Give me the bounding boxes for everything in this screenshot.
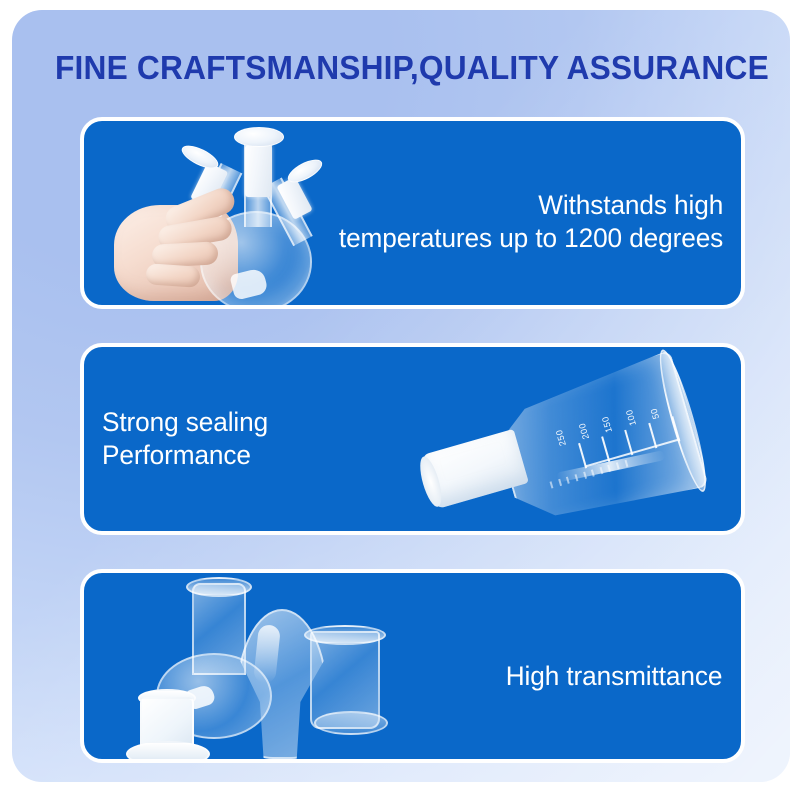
glass-stopper-right-icon [284, 155, 325, 187]
glass-stopper-left-icon [179, 141, 222, 173]
graduation-label: 100 [623, 408, 637, 427]
ground-glass-joint-icon [421, 429, 529, 509]
graduation-tick-icon [625, 429, 634, 455]
graduated-erlenmeyer-flask-with-ground-glass-joint-image: 250 200 150 100 [415, 349, 735, 535]
graduation-label: 50 [648, 407, 661, 420]
flask-neck-rim-icon [186, 577, 252, 597]
feature-card-high-transmittance[interactable]: High transmittance [80, 569, 745, 763]
feature-text-high-transmittance: High transmittance [505, 660, 722, 693]
glass-stopper-center-icon [234, 127, 284, 147]
page-title: FINE CRAFTSMANSHIP,QUALITY ASSURANCE [55, 48, 727, 88]
beaker-base-icon [314, 711, 388, 735]
assorted-laboratory-glassware-image [118, 579, 428, 763]
feature-text-high-temperature: Withstands high temperatures up to 1200 … [339, 189, 723, 255]
feature-card-high-temperature[interactable]: Withstands high temperatures up to 1200 … [80, 117, 745, 309]
erlenmeyer-flask-icon: 250 200 150 100 [487, 350, 709, 535]
ground-glass-joint-center-icon [245, 145, 272, 197]
promo-banner: FINE CRAFTSMANSHIP,QUALITY ASSURANCE Wit… [12, 10, 790, 782]
feature-card-strong-sealing[interactable]: Strong sealing Performance 250 200 [80, 343, 745, 535]
graduation-tick-icon [601, 436, 610, 462]
stopper-base-flange-icon [126, 741, 210, 763]
finger-icon [145, 263, 200, 288]
graduation-label: 200 [577, 422, 591, 441]
graduation-label: 150 [600, 415, 614, 434]
graduation-tick-icon [648, 423, 657, 449]
feature-text-strong-sealing: Strong sealing Performance [102, 406, 268, 472]
